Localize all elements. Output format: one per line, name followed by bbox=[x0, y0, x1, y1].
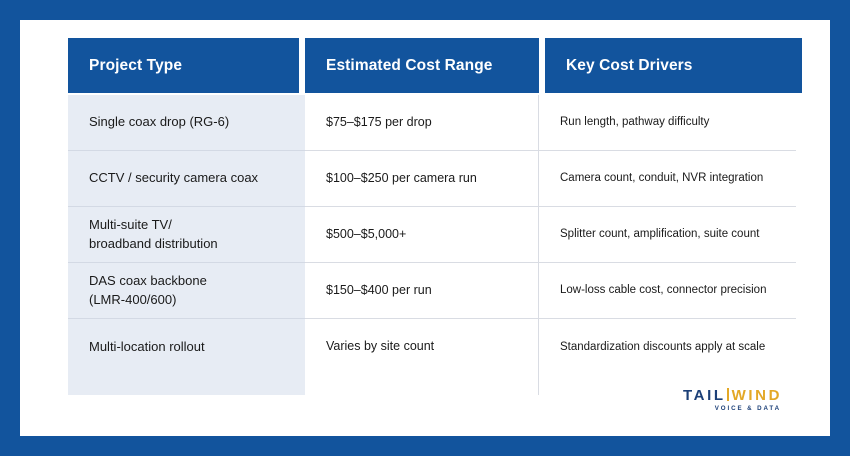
column-header-estimated-cost-range-label: Estimated Cost Range bbox=[326, 57, 493, 75]
cell-cost-drivers: Splitter count, amplification, suite cou… bbox=[560, 226, 759, 242]
column-header-project-type-label: Project Type bbox=[89, 57, 182, 75]
cost-comparison-table: Project Type Estimated Cost Range Key Co… bbox=[68, 38, 796, 418]
table-row: Multi-location rollout bbox=[68, 319, 305, 375]
table-row: $500–$5,000+ bbox=[305, 207, 538, 263]
cell-cost-range: $150–$400 per run bbox=[326, 282, 432, 300]
table-row: $100–$250 per camera run bbox=[305, 151, 538, 207]
table-row: Standardization discounts apply at scale bbox=[539, 319, 796, 375]
cell-project-type: Multi-location rollout bbox=[89, 338, 205, 356]
table-column-key-cost-drivers: Run length, pathway difficulty Camera co… bbox=[539, 95, 796, 395]
table-row: $75–$175 per drop bbox=[305, 95, 538, 151]
logo-divider-bar bbox=[727, 388, 729, 401]
cell-cost-drivers: Camera count, conduit, NVR integration bbox=[560, 170, 763, 186]
table-row: Run length, pathway difficulty bbox=[539, 95, 796, 151]
table-body: Single coax drop (RG-6) CCTV / security … bbox=[68, 95, 796, 395]
column-bottom-padding bbox=[305, 375, 538, 395]
table-row: Multi-suite TV/ broadband distribution bbox=[68, 207, 305, 263]
cell-cost-range: $500–$5,000+ bbox=[326, 226, 406, 244]
cell-project-type: Multi-suite TV/ broadband distribution bbox=[89, 216, 218, 253]
cell-cost-range: $100–$250 per camera run bbox=[326, 170, 477, 188]
column-header-key-cost-drivers-label: Key Cost Drivers bbox=[566, 57, 693, 75]
table-row: DAS coax backbone (LMR-400/600) bbox=[68, 263, 305, 319]
table-row: Splitter count, amplification, suite cou… bbox=[539, 207, 796, 263]
cell-project-type: Single coax drop (RG-6) bbox=[89, 113, 229, 131]
table-row: Single coax drop (RG-6) bbox=[68, 95, 305, 151]
cell-cost-drivers: Standardization discounts apply at scale bbox=[560, 339, 765, 355]
tailwind-logo: TAILWIND VOICE & DATA bbox=[683, 388, 782, 412]
logo-tagline: VOICE & DATA bbox=[683, 406, 781, 412]
cell-project-type: CCTV / security camera coax bbox=[89, 169, 258, 187]
logo-wordmark: TAILWIND bbox=[683, 388, 782, 403]
table-row: $150–$400 per run bbox=[305, 263, 538, 319]
column-header-project-type: Project Type bbox=[68, 38, 299, 93]
content-frame: Project Type Estimated Cost Range Key Co… bbox=[20, 20, 830, 436]
table-row: CCTV / security camera coax bbox=[68, 151, 305, 207]
cell-cost-range: $75–$175 per drop bbox=[326, 114, 432, 132]
column-bottom-padding bbox=[68, 375, 305, 395]
logo-word-primary: TAIL bbox=[683, 387, 726, 404]
table-header-row: Project Type Estimated Cost Range Key Co… bbox=[68, 38, 796, 93]
cell-cost-drivers: Low-loss cable cost, connector precision bbox=[560, 282, 766, 298]
column-header-estimated-cost-range: Estimated Cost Range bbox=[305, 38, 539, 93]
table-row: Low-loss cable cost, connector precision bbox=[539, 263, 796, 319]
table-row: Camera count, conduit, NVR integration bbox=[539, 151, 796, 207]
logo-word-secondary: WIND bbox=[732, 387, 782, 404]
cell-project-type: DAS coax backbone (LMR-400/600) bbox=[89, 272, 207, 309]
cell-cost-drivers: Run length, pathway difficulty bbox=[560, 114, 709, 130]
table-row: Varies by site count bbox=[305, 319, 538, 375]
table-column-estimated-cost-range: $75–$175 per drop $100–$250 per camera r… bbox=[305, 95, 539, 395]
cell-cost-range: Varies by site count bbox=[326, 338, 434, 356]
table-column-project-type: Single coax drop (RG-6) CCTV / security … bbox=[68, 95, 305, 395]
column-header-key-cost-drivers: Key Cost Drivers bbox=[545, 38, 802, 93]
